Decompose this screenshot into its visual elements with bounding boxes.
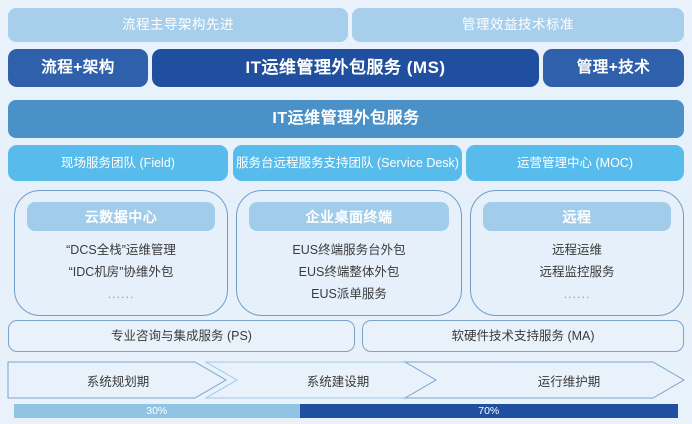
column-item: 远程运维 [552, 241, 602, 260]
theme-pill-management-standard[interactable]: 管理效益技术标准 [352, 8, 684, 42]
progress-segment-30: 30% [14, 404, 300, 418]
team-pill-label: 运营管理中心 (MOC) [517, 156, 633, 170]
support-pill-ps[interactable]: 专业咨询与集成服务 (PS) [8, 320, 355, 352]
column-item: EUS终端整体外包 [299, 263, 400, 282]
column-header: 云数据中心 [27, 202, 215, 231]
ms-pill-process-architecture[interactable]: 流程+架构 [8, 49, 148, 87]
theme-pill-label: 流程主导架构先进 [122, 17, 234, 33]
support-pill-ma[interactable]: 软硬件技术支持服务 (MA) [362, 320, 684, 352]
column-item: EUS派单服务 [311, 285, 387, 304]
phase-label-planning: 系统规划期 [18, 360, 218, 400]
ms-pill-main-service[interactable]: IT运维管理外包服务 (MS) [152, 49, 539, 87]
progress-segment-70: 70% [300, 404, 678, 418]
column-header: 远程 [483, 202, 671, 231]
service-banner[interactable]: IT运维管理外包服务 [8, 100, 684, 138]
column-item-ellipsis: ...... [564, 285, 591, 304]
column-header: 企业桌面终端 [249, 202, 449, 231]
phase-timeline: 系统规划期 系统建设期 运行维护期 [0, 360, 692, 400]
column-body: EUS终端服务台外包 EUS终端整体外包 EUS派单服务 [245, 237, 453, 309]
team-pill-service-desk[interactable]: 服务台远程服务支持团队 (Service Desk) [233, 145, 462, 181]
column-item: “DCS全栈”运维管理 [66, 241, 176, 260]
team-pill-moc[interactable]: 运营管理中心 (MOC) [466, 145, 684, 181]
ms-pill-management-technology[interactable]: 管理+技术 [543, 49, 684, 87]
phase-label-operation: 运行维护期 [464, 360, 674, 400]
column-panel-cloud-datacenter[interactable]: 云数据中心 “DCS全栈”运维管理 “IDC机房”协维外包 ...... [14, 190, 228, 316]
ms-pill-label: 流程+架构 [41, 59, 115, 77]
progress-segment-label: 70% [478, 406, 499, 417]
column-item-ellipsis: ...... [108, 285, 135, 304]
support-pill-label: 软硬件技术支持服务 (MA) [451, 329, 594, 343]
team-pill-label: 现场服务团队 (Field) [61, 156, 175, 170]
service-banner-label: IT运维管理外包服务 [272, 110, 419, 128]
team-pill-field[interactable]: 现场服务团队 (Field) [8, 145, 228, 181]
team-pill-label: 服务台远程服务支持团队 (Service Desk) [236, 156, 459, 170]
ms-pill-label: 管理+技术 [577, 59, 651, 77]
theme-pill-process-architecture[interactable]: 流程主导架构先进 [8, 8, 348, 42]
column-item: “IDC机房”协维外包 [69, 263, 174, 282]
ms-pill-label: IT运维管理外包服务 (MS) [245, 58, 445, 78]
column-body: 远程运维 远程监控服务 ...... [479, 237, 675, 309]
column-panel-enterprise-desktop[interactable]: 企业桌面终端 EUS终端服务台外包 EUS终端整体外包 EUS派单服务 [236, 190, 462, 316]
support-pill-label: 专业咨询与集成服务 (PS) [111, 329, 252, 343]
column-item: 远程监控服务 [539, 263, 614, 282]
progress-bar: 30% 70% [14, 404, 678, 418]
architecture-diagram: 流程主导架构先进 管理效益技术标准 流程+架构 IT运维管理外包服务 (MS) … [0, 0, 692, 424]
phase-label-construction: 系统建设期 [238, 360, 438, 400]
column-body: “DCS全栈”运维管理 “IDC机房”协维外包 ...... [23, 237, 219, 309]
progress-segment-label: 30% [146, 406, 167, 417]
theme-pill-label: 管理效益技术标准 [462, 17, 574, 33]
column-panel-remote[interactable]: 远程 远程运维 远程监控服务 ...... [470, 190, 684, 316]
column-item: EUS终端服务台外包 [292, 241, 405, 260]
